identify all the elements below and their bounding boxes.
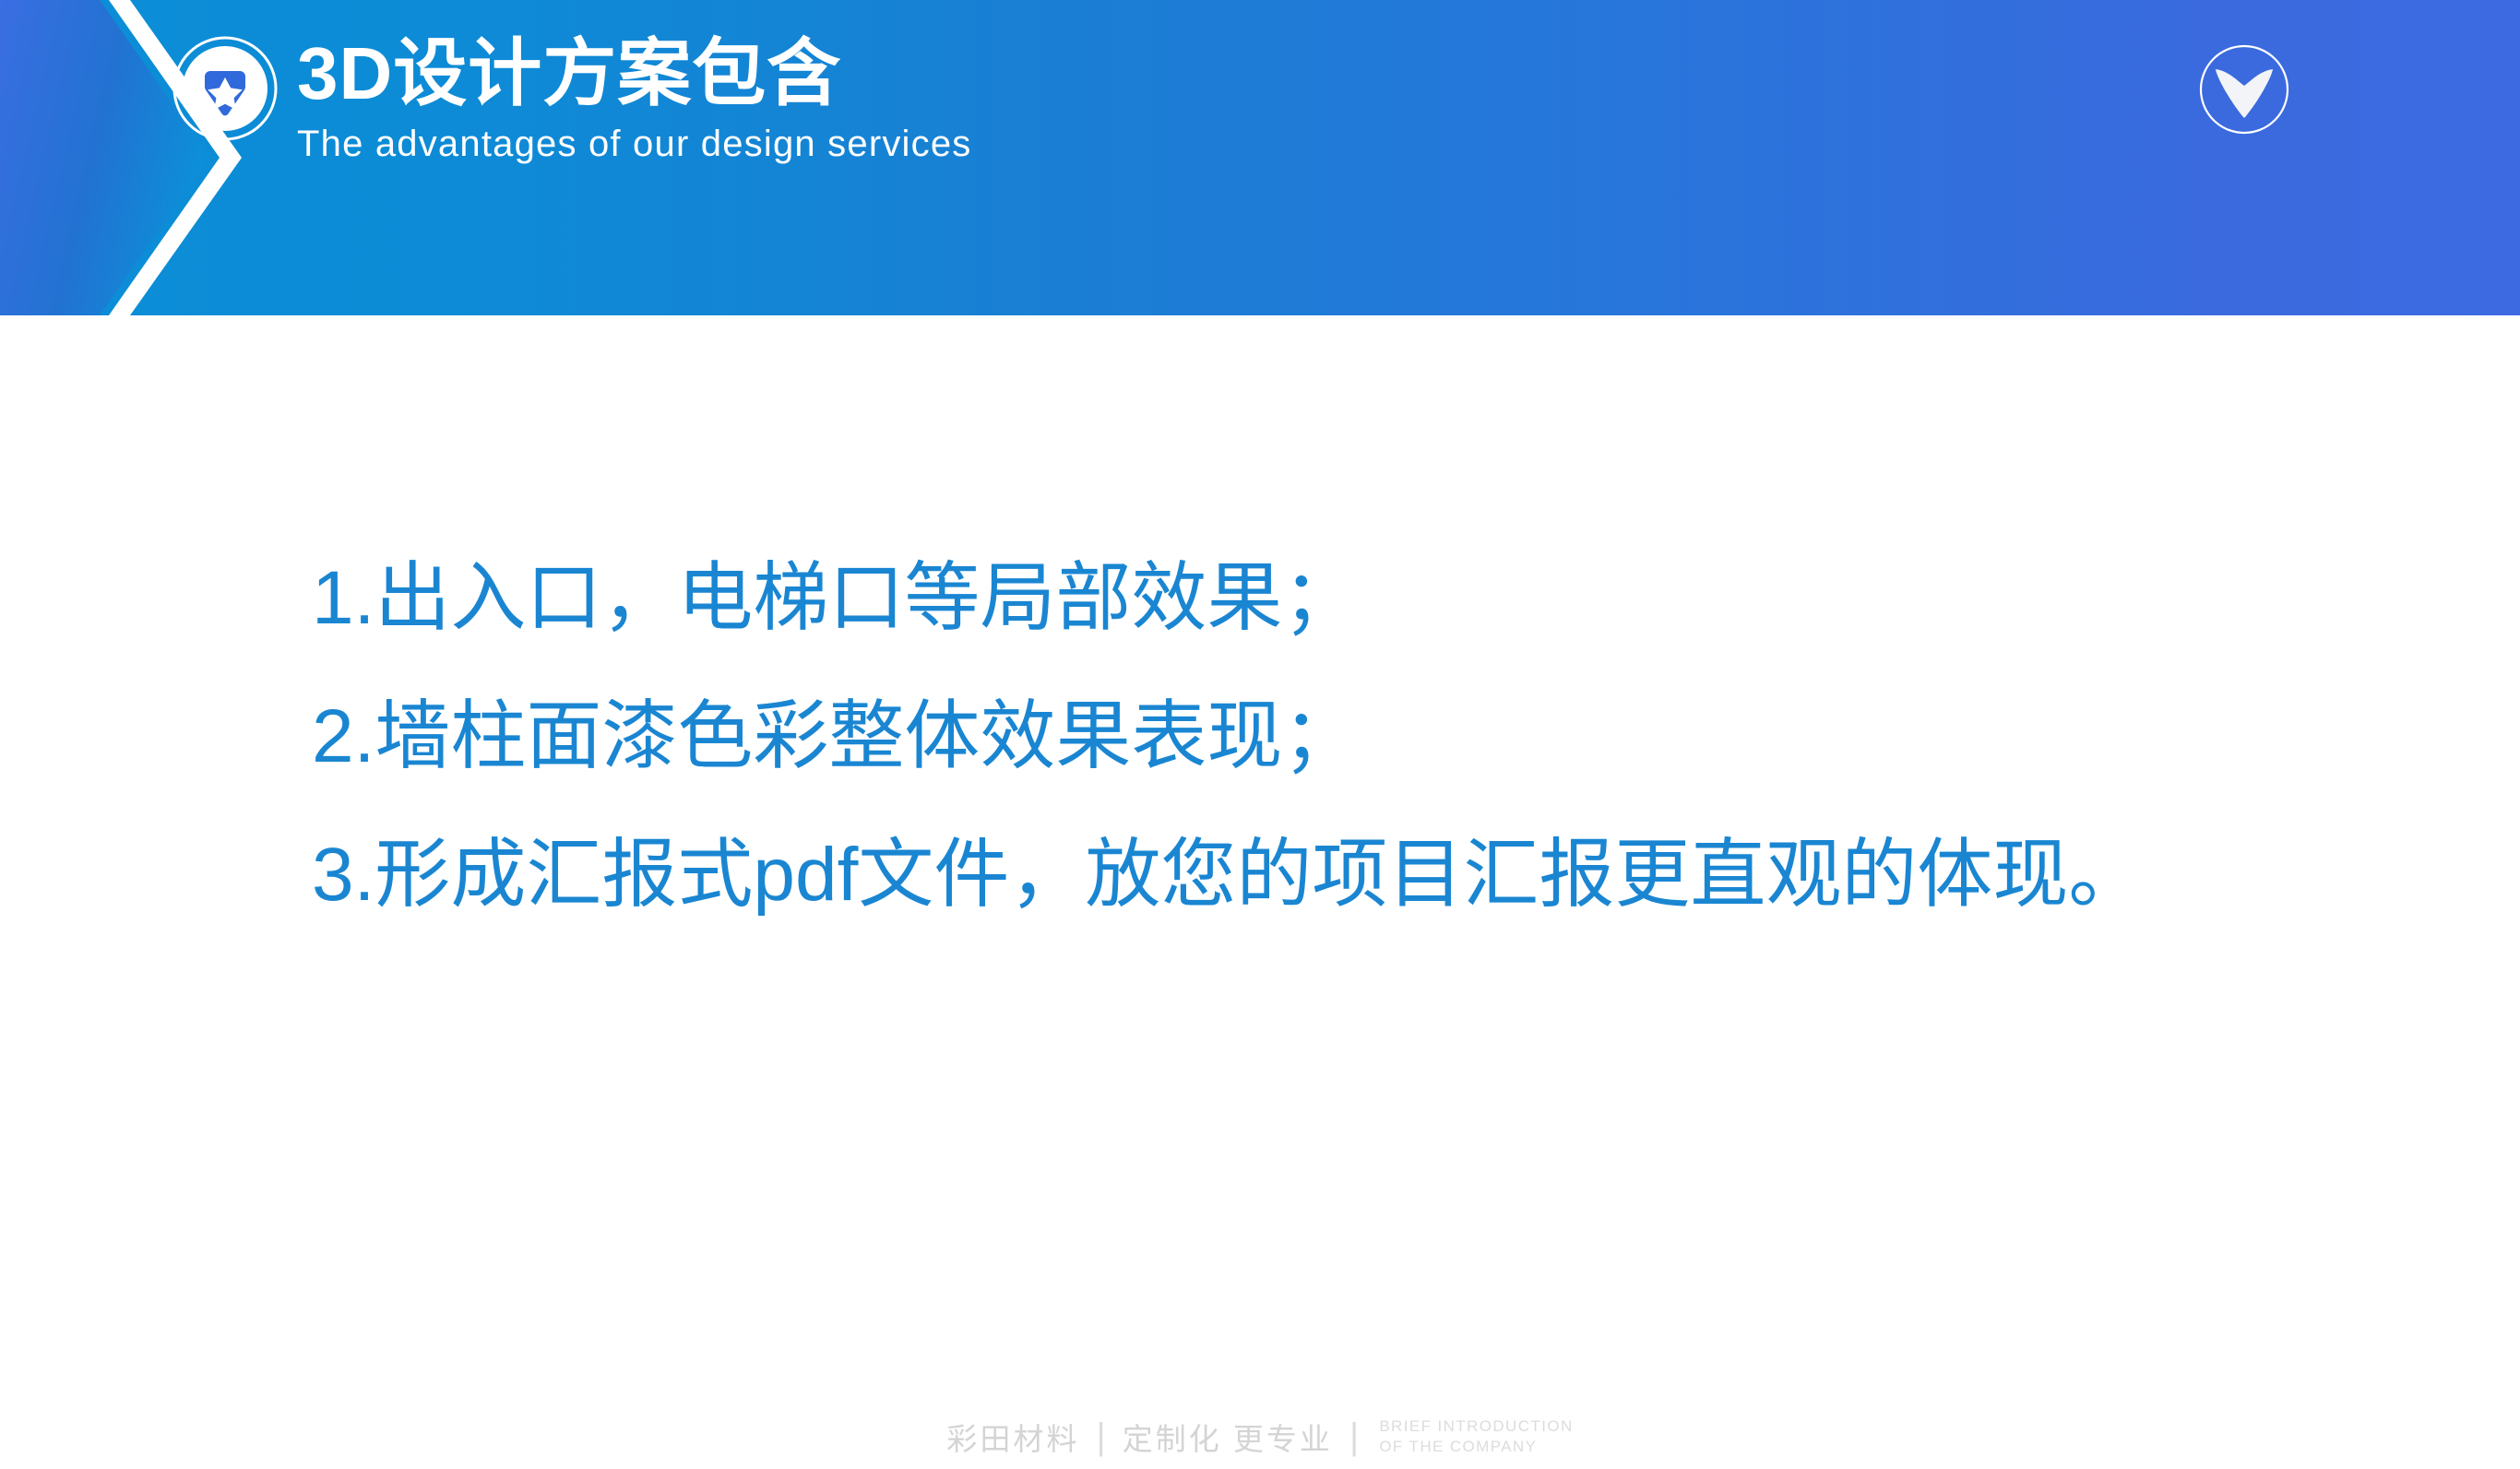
footer-divider-2: | bbox=[1349, 1418, 1359, 1455]
header-title-block: 3D设计方案包含 The advantages of our design se… bbox=[297, 31, 971, 168]
footer-english-block: BRIEF INTRODUCTION OF THE COMPANY bbox=[1379, 1416, 1573, 1457]
footer-english-line-2: OF THE COMPANY bbox=[1379, 1437, 1573, 1457]
feature-list: 1.出入口，电梯口等局部效果； 2.墙柱面漆色彩整体效果表现； 3.形成汇报式p… bbox=[312, 529, 2387, 944]
list-item: 2.墙柱面漆色彩整体效果表现； bbox=[312, 668, 2387, 806]
page-title: 3D设计方案包含 bbox=[297, 31, 971, 116]
footer-english-line-1: BRIEF INTRODUCTION bbox=[1379, 1416, 1573, 1437]
list-item: 1.出入口，电梯口等局部效果； bbox=[312, 529, 2387, 668]
page-subtitle: The advantages of our design services bbox=[297, 120, 971, 168]
footer-tagline: 定制化 更专业 bbox=[1123, 1415, 1333, 1459]
list-item: 3.形成汇报式pdf文件，放您的项目汇报更直观的体现。 bbox=[312, 806, 2387, 944]
footer-brand: 彩田材料 bbox=[946, 1415, 1079, 1459]
down-arrow-circle-icon bbox=[2198, 43, 2290, 136]
page-footer: 彩田材料 | 定制化 更专业 | BRIEF INTRODUCTION OF T… bbox=[0, 1404, 2520, 1469]
footer-divider-1: | bbox=[1096, 1418, 1105, 1455]
footer-inner: 彩田材料 | 定制化 更专业 | BRIEF INTRODUCTION OF T… bbox=[946, 1415, 1573, 1459]
page-content: 1.出入口，电梯口等局部效果； 2.墙柱面漆色彩整体效果表现； 3.形成汇报式p… bbox=[0, 315, 2520, 1270]
page-header: 3D设计方案包含 The advantages of our design se… bbox=[0, 0, 2520, 315]
star-shield-logo-icon bbox=[172, 35, 279, 142]
